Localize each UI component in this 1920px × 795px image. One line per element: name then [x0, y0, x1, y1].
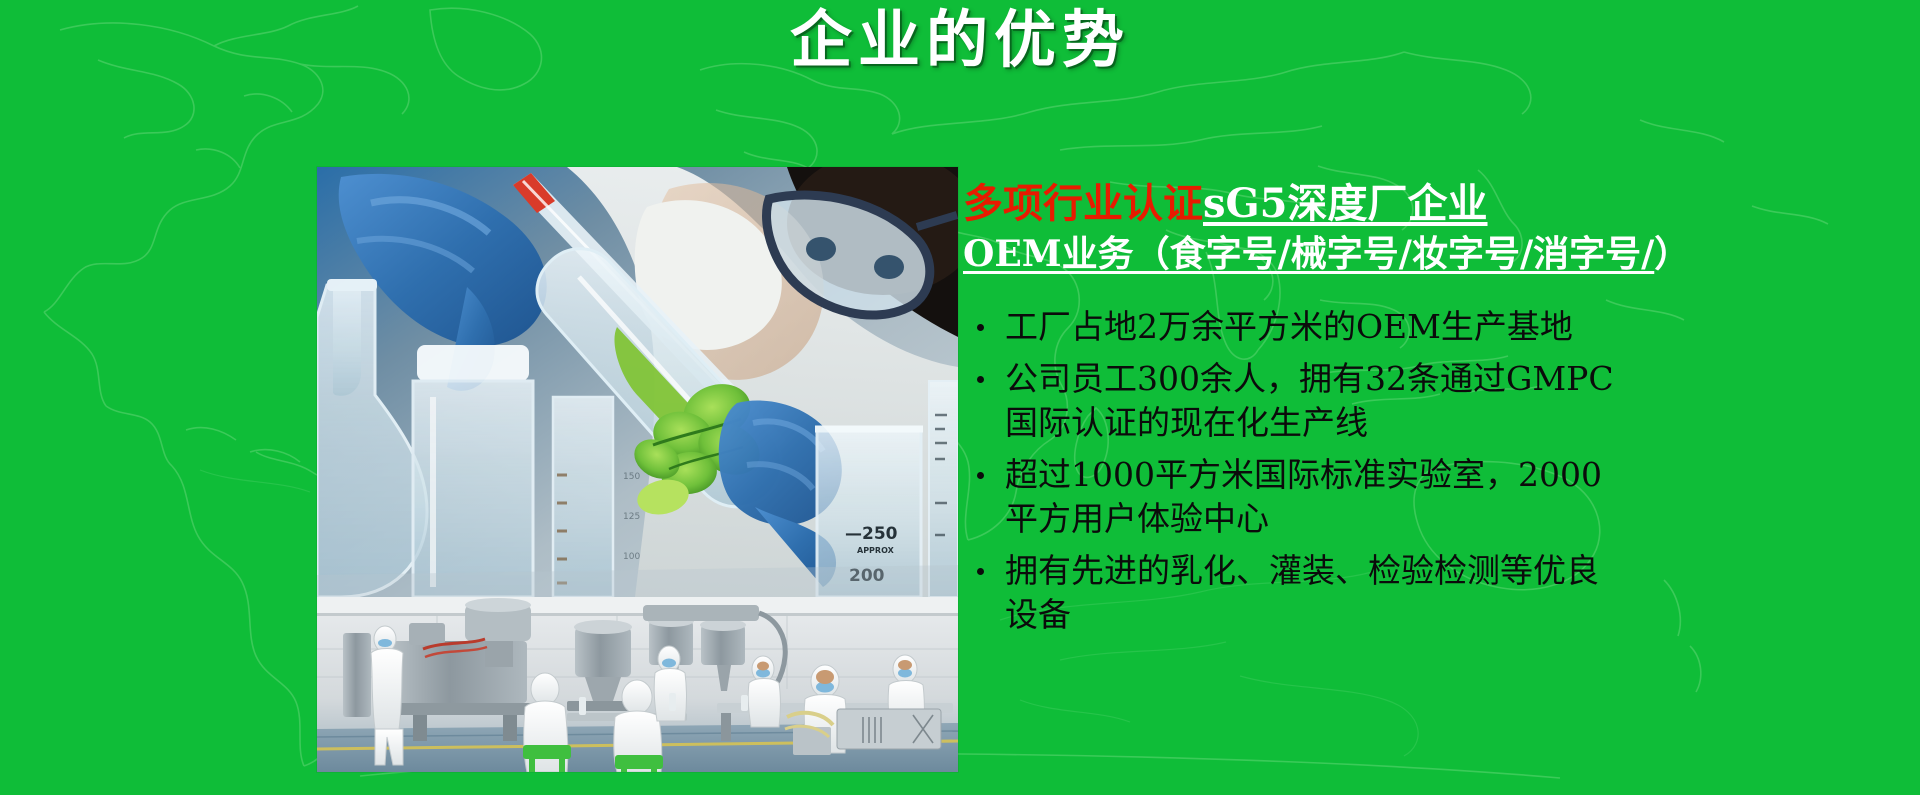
- bullet-dot-icon: [977, 376, 984, 383]
- headline-red-text: 多项行业认证: [963, 180, 1203, 227]
- beaker-mark-250: —250: [845, 524, 898, 544]
- laboratory-researcher-photo: 150 125 100 —250 APPROX 200: [317, 167, 958, 597]
- bullet-dot-icon: [977, 568, 984, 575]
- subline-underlined-text: OEM业务（食字号/械字号/妆字号/消字号/: [963, 233, 1654, 275]
- beaker-mark-approx: APPROX: [857, 546, 895, 555]
- bullet-dot-icon: [977, 324, 984, 331]
- svg-text:125: 125: [623, 512, 640, 522]
- list-item: 公司员工300余人，拥有32条通过GMPC国际认证的现在化生产线: [963, 357, 1617, 445]
- svg-text:150: 150: [623, 472, 640, 482]
- svg-text:100: 100: [623, 552, 640, 562]
- bullet-list: 工厂占地2万余平方米的OEM生产基地 公司员工300余人，拥有32条通过GMPC…: [963, 305, 1903, 636]
- slide-root: 企业的优势: [0, 0, 1920, 795]
- subline-trailing-text: ）: [1654, 233, 1690, 275]
- list-item-text: 公司员工300余人，拥有32条通过GMPC国际认证的现在化生产线: [1005, 359, 1614, 442]
- photo-stack: 150 125 100 —250 APPROX 200: [317, 167, 958, 772]
- cleanroom-production-line-photo: [317, 597, 958, 772]
- list-item-text: 工厂占地2万余平方米的OEM生产基地: [1005, 307, 1573, 346]
- list-item-text: 拥有先进的乳化、灌装、检验检测等优良设备: [1005, 551, 1599, 634]
- list-item: 超过1000平方米国际标准实验室，2000平方用户体验中心: [963, 453, 1617, 541]
- list-item: 拥有先进的乳化、灌装、检验检测等优良设备: [963, 549, 1617, 637]
- headline: 多项行业认证sG5深度厂企业: [963, 182, 1903, 227]
- list-item-text: 超过1000平方米国际标准实验室，2000平方用户体验中心: [1005, 455, 1602, 538]
- bullet-dot-icon: [977, 472, 984, 479]
- headline-white-text: sG5深度厂企业: [1203, 180, 1488, 227]
- page-title: 企业的优势: [790, 2, 1130, 78]
- title-bar: 企业的优势: [0, 2, 1920, 78]
- list-item: 工厂占地2万余平方米的OEM生产基地: [963, 305, 1617, 349]
- subline: OEM业务（食字号/械字号/妆字号/消字号/）: [963, 233, 1903, 275]
- content-column: 多项行业认证sG5深度厂企业 OEM业务（食字号/械字号/妆字号/消字号/） 工…: [963, 182, 1903, 644]
